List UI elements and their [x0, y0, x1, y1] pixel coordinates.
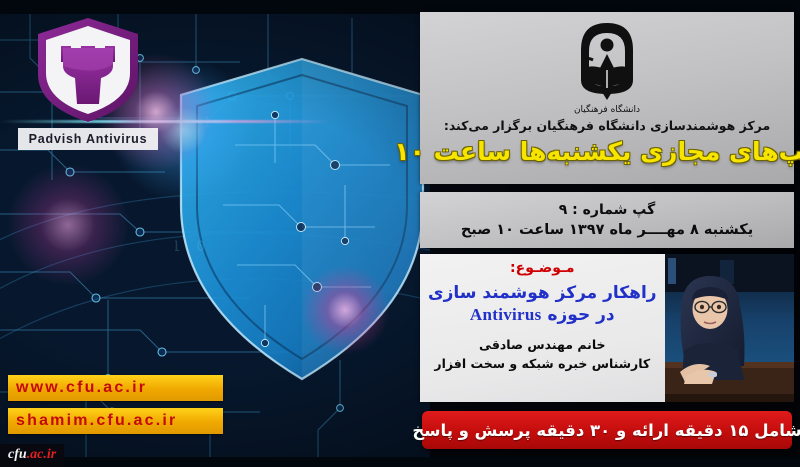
- topic-column: مـوضـوع: راهکار مرکز هوشمند سازی در حوزه…: [420, 254, 665, 402]
- padvish-brand: Padvish Antivirus: [18, 16, 158, 150]
- speaker-role: کارشناس خبره شبکه و سخت افزار: [434, 356, 650, 371]
- speaker-photo: [665, 254, 794, 402]
- padvish-label: Padvish Antivirus: [18, 128, 158, 150]
- topic-line-2-latin: Antivirus: [470, 305, 542, 324]
- topic-line-2-prefix: در حوزه: [542, 305, 615, 325]
- topic-line-2: در حوزه Antivirus: [470, 305, 615, 325]
- organizer-text: مرکز هوشمندسازی دانشگاه فرهنگیان برگزار …: [444, 118, 770, 133]
- watermark-suffix: .ac.ir: [27, 447, 57, 462]
- duration-banner-text: شامل ۱۵ دقیقه ارائه و ۳۰ دقیقه پرسش و پا…: [412, 421, 800, 440]
- session-number: گپ شماره : ۹: [559, 202, 655, 218]
- topic-card: مـوضـوع: راهکار مرکز هوشمند سازی در حوزه…: [420, 254, 794, 402]
- padvish-shield-rook-icon: [33, 16, 143, 124]
- farhangian-university-logo-icon: دانشگاه فرهنگیان: [569, 20, 645, 116]
- cfu-watermark: cfu.ac.ir: [0, 444, 64, 467]
- session-card: گپ شماره : ۹ یکشنبه ۸ مهــــر ماه ۱۳۹۷ س…: [420, 192, 794, 248]
- speaker-name: خانم مهندس صادقی: [479, 337, 605, 352]
- website-links: www.cfu.ac.ir shamim.cfu.ac.ir: [8, 375, 223, 441]
- watermark-prefix: cfu: [8, 447, 27, 462]
- session-date: یکشنبه ۸ مهــــر ماه ۱۳۹۷ ساعت ۱۰ صبح: [461, 222, 753, 238]
- duration-banner: شامل ۱۵ دقیقه ارائه و ۳۰ دقیقه پرسش و پا…: [422, 411, 792, 449]
- secondary-url[interactable]: shamim.cfu.ac.ir: [8, 408, 223, 434]
- svg-text:دانشگاه فرهنگیان: دانشگاه فرهنگیان: [574, 103, 640, 115]
- speaker-portrait-image: [665, 254, 794, 402]
- primary-url[interactable]: www.cfu.ac.ir: [8, 375, 223, 401]
- header-card: دانشگاه فرهنگیان مرکز هوشمندسازی دانشگاه…: [420, 12, 794, 184]
- webinar-poster: 1 0 0 1 0 1 1 0 0 1 0 0 1 1 0 0 1 0 1 1 …: [0, 0, 800, 467]
- page-title: گپ‌های مجازی یکشنبه‌ها ساعت ۱۰: [394, 137, 800, 166]
- topic-line-1: راهکار مرکز هوشمند سازی: [428, 283, 657, 303]
- info-panel: دانشگاه فرهنگیان مرکز هوشمندسازی دانشگاه…: [414, 0, 800, 467]
- topic-label: مـوضـوع:: [510, 260, 574, 276]
